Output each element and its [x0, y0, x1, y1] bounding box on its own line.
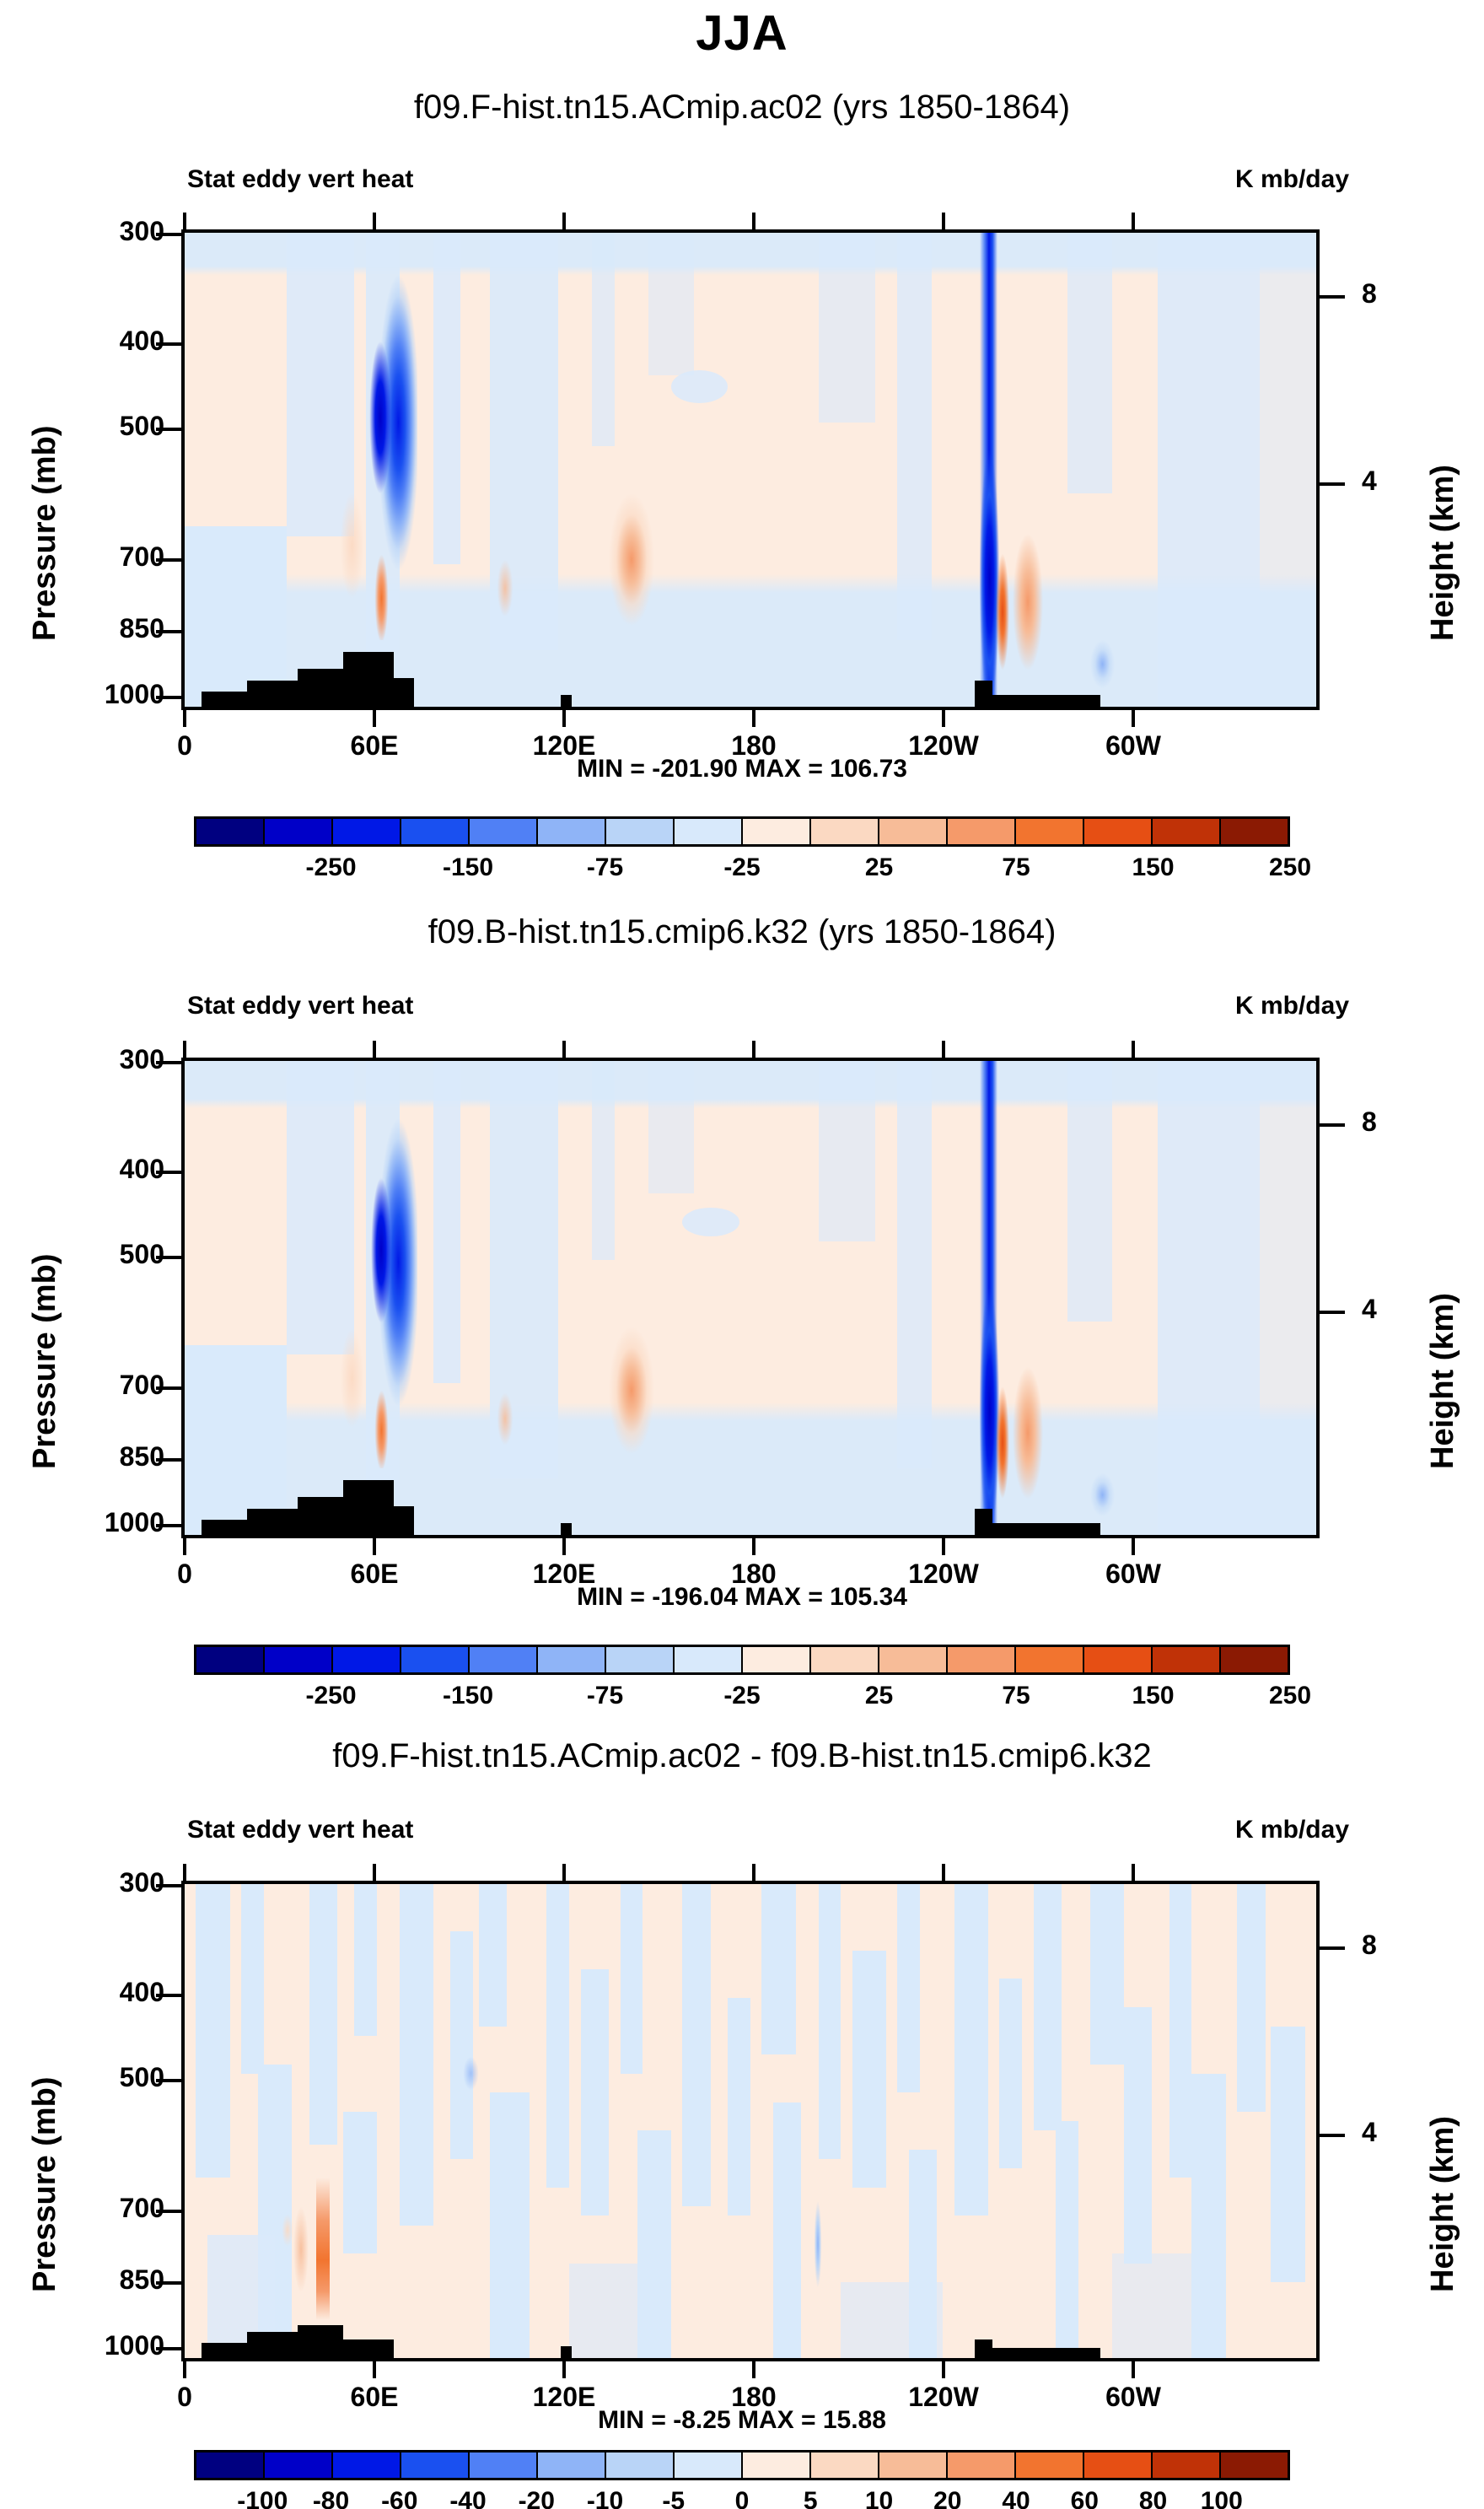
panel-1-topography	[343, 652, 394, 707]
page-title: JJA	[0, 5, 1484, 62]
panel-2-colorbar-label: 250	[1269, 1682, 1311, 1710]
panel-3-ytick-right-8: 8	[1362, 1930, 1377, 1961]
panel-3-ytick-400: 400	[72, 1977, 164, 2008]
panel-2-ytick-500: 500	[72, 1239, 164, 1270]
panel-2-topography	[343, 1480, 394, 1535]
panel-1-colorbar-label: -25	[723, 853, 760, 882]
colorbar-swatch	[743, 1647, 811, 1672]
panel-2-colorbar-label: -25	[723, 1682, 760, 1710]
panel-1-colorbar-label: -150	[443, 853, 493, 882]
panel-2-y-axis-right-label: Height (km)	[1425, 1293, 1461, 1469]
colorbar-swatch	[606, 819, 675, 844]
panel-1-topography	[202, 692, 247, 707]
panel-2-colorbar	[194, 1645, 1290, 1675]
colorbar-swatch	[675, 1647, 743, 1672]
panel-2-ytick-700: 700	[72, 1370, 164, 1401]
panel-1-colorbar-label: 25	[865, 853, 893, 882]
panel-3-field-label: Stat eddy vert heat	[187, 1816, 413, 1844]
colorbar-swatch	[538, 1647, 606, 1672]
colorbar-swatch	[879, 2452, 948, 2478]
colorbar-swatch	[811, 1647, 879, 1672]
colorbar-swatch	[196, 819, 265, 844]
colorbar-swatch	[196, 1647, 265, 1672]
panel-2-title: f09.B-hist.tn15.cmip6.k32 (yrs 1850-1864…	[0, 913, 1484, 951]
panel-2-ytick-300: 300	[72, 1044, 164, 1075]
colorbar-swatch	[948, 2452, 1016, 2478]
colorbar-swatch	[265, 819, 333, 844]
panel-3-plot-area	[181, 1881, 1320, 2361]
panel-2-plot-area	[181, 1058, 1320, 1538]
colorbar-swatch	[333, 819, 401, 844]
panel-3-colorbar-label: 5	[804, 2487, 818, 2509]
colorbar-swatch	[1221, 2452, 1288, 2478]
panel-2-topography	[202, 1520, 247, 1535]
panel-3-topography	[247, 2332, 298, 2358]
panel-3-colorbar-label: 80	[1139, 2487, 1167, 2509]
panel-2-ytick-1000: 1000	[55, 1507, 164, 1538]
panel-3-units-label: K mb/day	[1235, 1816, 1349, 1844]
panel-3-colorbar-label: -80	[313, 2487, 349, 2509]
panel-3-minmax: MIN = -8.25 MAX = 15.88	[0, 2406, 1484, 2435]
colorbar-swatch	[811, 2452, 879, 2478]
panel-1-topography	[247, 681, 298, 707]
colorbar-swatch	[1153, 1647, 1221, 1672]
panel-2-colorbar-label: 150	[1132, 1682, 1174, 1710]
panel-3-y-axis-right-label: Height (km)	[1425, 2116, 1461, 2292]
colorbar-swatch	[470, 2452, 538, 2478]
colorbar-swatch	[948, 1647, 1016, 1672]
panel-2-ytick-right-8: 8	[1362, 1106, 1377, 1138]
panel-3-colorbar-label: -5	[662, 2487, 685, 2509]
panel-2-ytick-right-4: 4	[1362, 1294, 1377, 1325]
colorbar-swatch	[470, 819, 538, 844]
panel-1-ytick-400: 400	[72, 326, 164, 357]
panel-1-colorbar-label: -75	[587, 853, 623, 882]
colorbar-swatch	[1221, 1647, 1288, 1672]
panel-3-topography	[298, 2325, 343, 2358]
panel-2-topography	[992, 1523, 1100, 1535]
panel-3-ytick-right-4: 4	[1362, 2117, 1377, 2148]
colorbar-swatch	[743, 819, 811, 844]
colorbar-swatch	[401, 2452, 470, 2478]
colorbar-swatch	[606, 2452, 675, 2478]
panel-1-ytick-500: 500	[72, 411, 164, 442]
panel-1-ytick-right-4: 4	[1362, 466, 1377, 497]
panel-3-topography	[992, 2348, 1100, 2358]
panel-1-topography	[394, 678, 414, 707]
panel-2-colorbar-label: -75	[587, 1682, 623, 1710]
colorbar-swatch	[879, 819, 948, 844]
panel-2-colorbar-label: 25	[865, 1682, 893, 1710]
colorbar-swatch	[333, 1647, 401, 1672]
panel-1-ytick-300: 300	[72, 216, 164, 247]
colorbar-swatch	[1016, 2452, 1084, 2478]
panel-3-ytick-300: 300	[72, 1867, 164, 1898]
panel-1-units-label: K mb/day	[1235, 165, 1349, 194]
colorbar-swatch	[1153, 819, 1221, 844]
panel-3-ytick-500: 500	[72, 2062, 164, 2093]
colorbar-swatch	[333, 2452, 401, 2478]
panel-2-colorbar-label: -250	[305, 1682, 356, 1710]
colorbar-swatch	[675, 2452, 743, 2478]
panel-3-colorbar-label: 20	[933, 2487, 961, 2509]
colorbar-swatch	[879, 1647, 948, 1672]
panel-3-colorbar-label: -60	[381, 2487, 417, 2509]
colorbar-swatch	[265, 1647, 333, 1672]
panel-3-colorbar-label: -40	[449, 2487, 486, 2509]
colorbar-swatch	[538, 2452, 606, 2478]
panel-1-minmax: MIN = -201.90 MAX = 106.73	[0, 755, 1484, 783]
colorbar-swatch	[1084, 2452, 1153, 2478]
panel-3-topography	[202, 2343, 247, 2358]
panel-1-plot-area	[181, 229, 1320, 710]
panel-2-topography	[975, 1509, 992, 1535]
colorbar-swatch	[1016, 1647, 1084, 1672]
panel-2-topography	[298, 1497, 343, 1535]
panel-3-colorbar-label: 60	[1071, 2487, 1099, 2509]
panel-2-y-axis-label: Pressure (mb)	[27, 1253, 63, 1469]
panel-3-y-axis-label: Pressure (mb)	[27, 2076, 63, 2292]
colorbar-swatch	[470, 1647, 538, 1672]
colorbar-swatch	[265, 2452, 333, 2478]
colorbar-swatch	[401, 819, 470, 844]
colorbar-swatch	[1084, 1647, 1153, 1672]
panel-1-ytick-700: 700	[72, 541, 164, 573]
panel-1-ytick-850: 850	[72, 613, 164, 644]
panel-2-colorbar-label: 75	[1002, 1682, 1030, 1710]
panel-2-field-label: Stat eddy vert heat	[187, 992, 413, 1020]
colorbar-swatch	[1221, 819, 1288, 844]
panel-2-topography	[394, 1506, 414, 1535]
panel-1-y-axis-label: Pressure (mb)	[27, 425, 63, 641]
panel-1-colorbar-label: 150	[1132, 853, 1174, 882]
colorbar-swatch	[1153, 2452, 1221, 2478]
panel-1-colorbar-label: -250	[305, 853, 356, 882]
panel-1-title: f09.F-hist.tn15.ACmip.ac02 (yrs 1850-186…	[0, 89, 1484, 127]
panel-1-topography	[975, 681, 992, 707]
panel-3-colorbar-label: 100	[1201, 2487, 1243, 2509]
figure-page: JJA f09.F-hist.tn15.ACmip.ac02 (yrs 1850…	[0, 0, 1484, 2509]
panel-2-colorbar-label: -150	[443, 1682, 493, 1710]
colorbar-swatch	[1084, 819, 1153, 844]
panel-1-colorbar	[194, 816, 1290, 847]
colorbar-swatch	[401, 1647, 470, 1672]
colorbar-swatch	[538, 819, 606, 844]
panel-1-ytick-right-8: 8	[1362, 278, 1377, 310]
panel-3-topography	[561, 2346, 572, 2358]
panel-2-units-label: K mb/day	[1235, 992, 1349, 1020]
panel-1-y-axis-right-label: Height (km)	[1425, 465, 1461, 641]
panel-1-topography	[992, 695, 1100, 707]
panel-1-colorbar-label: 250	[1269, 853, 1311, 882]
panel-2-topography	[247, 1509, 298, 1535]
panel-1-colorbar-label: 75	[1002, 853, 1030, 882]
panel-3-colorbar-label: 10	[865, 2487, 893, 2509]
panel-3-topography	[975, 2339, 992, 2358]
panel-3-colorbar-label: -10	[587, 2487, 623, 2509]
panel-1-ytick-1000: 1000	[55, 679, 164, 710]
panel-3-colorbar-label: 40	[1002, 2487, 1030, 2509]
panel-3-ytick-700: 700	[72, 2193, 164, 2224]
panel-1-field-label: Stat eddy vert heat	[187, 165, 413, 194]
colorbar-swatch	[811, 819, 879, 844]
panel-2-topography	[561, 1523, 572, 1535]
panel-3-colorbar	[194, 2450, 1290, 2480]
panel-2-ytick-850: 850	[72, 1441, 164, 1473]
panel-1-topography	[561, 695, 572, 707]
panel-3-colorbar-label: -100	[237, 2487, 288, 2509]
panel-3-ytick-1000: 1000	[55, 2330, 164, 2361]
panel-2-minmax: MIN = -196.04 MAX = 105.34	[0, 1583, 1484, 1612]
colorbar-swatch	[743, 2452, 811, 2478]
panel-2-ytick-400: 400	[72, 1154, 164, 1185]
panel-3-colorbar-label: -20	[519, 2487, 555, 2509]
colorbar-swatch	[675, 819, 743, 844]
colorbar-swatch	[606, 1647, 675, 1672]
colorbar-swatch	[196, 2452, 265, 2478]
panel-3-title: f09.F-hist.tn15.ACmip.ac02 - f09.B-hist.…	[0, 1737, 1484, 1775]
panel-3-colorbar-label: 0	[735, 2487, 750, 2509]
panel-1-topography	[298, 669, 343, 707]
colorbar-swatch	[948, 819, 1016, 844]
colorbar-swatch	[1016, 819, 1084, 844]
panel-3-ytick-850: 850	[72, 2264, 164, 2296]
panel-3-topography	[343, 2339, 394, 2358]
